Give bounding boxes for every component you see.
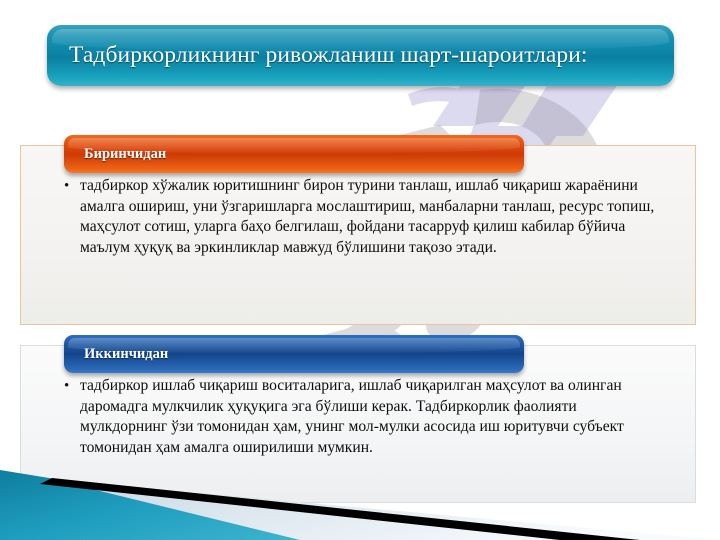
section-body-first: • тадбиркор хўжалик юритишнинг бирон тур… <box>64 176 664 258</box>
bullet-icon: • <box>64 176 80 197</box>
list-item: • тадбиркор ишлаб чиқариш воситаларига, … <box>64 376 664 458</box>
section-body-first-text: тадбиркор хўжалик юритишнинг бирон турин… <box>80 176 664 258</box>
bullet-icon: • <box>64 376 80 397</box>
section-body-second-text: тадбиркор ишлаб чиқариш воситаларига, иш… <box>80 376 664 458</box>
list-item: • тадбиркор хўжалик юритишнинг бирон тур… <box>64 176 664 258</box>
section-header-first-label: Биринчидан <box>84 146 166 163</box>
slide-canvas: Тадбиркорликнинг ривожланиш шарт-шароитл… <box>0 0 720 540</box>
section-header-second-label: Иккинчидан <box>84 346 168 363</box>
section-header-second: Иккинчидан <box>64 335 524 373</box>
section-body-second: • тадбиркор ишлаб чиқариш воситаларига, … <box>64 376 664 458</box>
section-header-first: Биринчидан <box>64 135 524 173</box>
page-title: Тадбиркорликнинг ривожланиш шарт-шароитл… <box>69 43 588 69</box>
slide-title-banner: Тадбиркорликнинг ривожланиш шарт-шароитл… <box>47 25 674 86</box>
